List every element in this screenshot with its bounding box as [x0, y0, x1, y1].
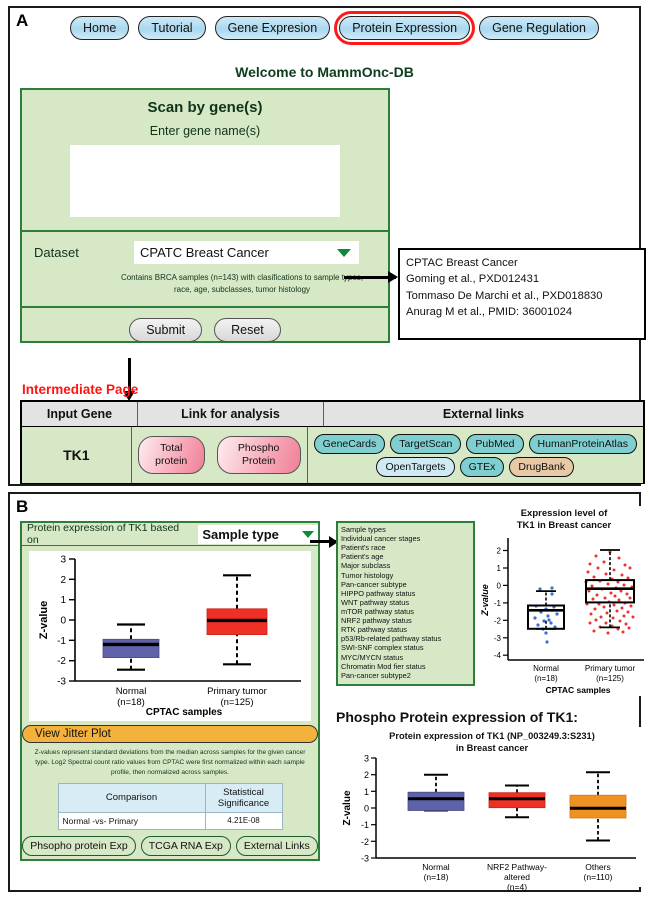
phospho-protein-button[interactable]: Phospho Protein [217, 436, 301, 473]
grouping-options-list[interactable]: Sample types Individual cancer stages Pa… [336, 521, 475, 686]
main-boxplot-svg: 321 0-1-2 -3 Z-value [29, 551, 311, 721]
link-humanproteinatlas[interactable]: HumanProteinAtlas [529, 434, 637, 454]
reset-button[interactable]: Reset [214, 318, 281, 342]
dataset-row: Dataset CPATC Breast Cancer [22, 232, 388, 264]
chevron-down-icon [337, 249, 351, 257]
svg-text:3: 3 [60, 555, 66, 566]
cell-input-gene: TK1 [22, 427, 131, 483]
svg-text:Primary tumor: Primary tumor [207, 686, 267, 697]
jitter-plot-svg: 210 -1-2-3 -4 Z-value [478, 532, 649, 697]
list-item[interactable]: Major subclass [341, 561, 470, 570]
list-item[interactable]: Sample types [341, 525, 470, 534]
nav-tab-home[interactable]: Home [70, 16, 129, 40]
nav-tab-gene-expression[interactable]: Gene Expresion [215, 16, 331, 40]
panel-b-letter: B [16, 497, 28, 517]
nav-tab-protein-expression[interactable]: Protein Expression [339, 16, 470, 40]
view-jitter-plot-button[interactable]: View Jitter Plot [22, 725, 318, 743]
svg-text:1: 1 [497, 564, 502, 573]
intermediate-page-banner: Intermediate Page [22, 382, 138, 397]
svg-text:-3: -3 [494, 634, 502, 643]
gene-name-input[interactable] [69, 144, 341, 218]
svg-text:(n=18): (n=18) [534, 674, 558, 683]
external-links-row-1: GeneCards TargetScan PubMed HumanProtein… [314, 434, 637, 454]
list-item[interactable]: mTOR pathway status [341, 607, 470, 616]
svg-text:0: 0 [60, 616, 66, 627]
phospho-protein-exp-button[interactable]: Phsopho protein Exp [22, 836, 135, 856]
svg-text:2: 2 [60, 575, 66, 586]
box-tumor-jitter [586, 550, 634, 627]
list-item[interactable]: Tumor histology [341, 571, 470, 580]
welcome-title: Welcome to MammOnc-DB [10, 64, 639, 80]
svg-text:0: 0 [497, 581, 502, 590]
cell-analysis-links: Total protein Phospho Protein [131, 427, 307, 483]
svg-text:-3: -3 [361, 854, 369, 864]
list-item[interactable]: Pan-cancer subtype2 [341, 671, 470, 680]
list-item[interactable]: WNT pathway status [341, 598, 470, 607]
link-gtex[interactable]: GTEx [460, 457, 505, 477]
scan-by-genes-form: Scan by gene(s) Enter gene name(s) Datas… [20, 88, 390, 343]
zvalue-caption: Z-values represent standard deviations f… [28, 748, 312, 779]
svg-text:-2: -2 [361, 837, 369, 847]
list-item[interactable]: p53/Rb-related pathway status [341, 634, 470, 643]
svg-text:Normal: Normal [422, 862, 450, 872]
svg-text:3: 3 [364, 754, 369, 764]
nav-tab-gene-regulation[interactable]: Gene Regulation [479, 16, 599, 40]
phospho-section-title: Phospho Protein expression of TK1: [336, 709, 578, 725]
statistical-significance-table: Comparison Statistical Significance Norm… [58, 783, 283, 830]
form-divider-2 [22, 306, 388, 308]
list-item[interactable]: Chromatin Mod fier status [341, 662, 470, 671]
svg-text:(n=18): (n=18) [117, 697, 145, 708]
svg-text:-2: -2 [57, 656, 66, 667]
protein-expression-card: Protein expression of TK1 based on Sampl… [20, 521, 320, 861]
tcga-rna-exp-button[interactable]: TCGA RNA Exp [141, 836, 231, 856]
grouping-selected-value: Sample type [198, 527, 279, 542]
panel-a-letter: A [16, 11, 28, 31]
box-normal [103, 625, 159, 670]
svg-text:2: 2 [364, 770, 369, 780]
phospho-boxplot-svg: 321 0-1-2 -3 Z-value [336, 754, 648, 894]
list-item[interactable]: SWI-SNF complex status [341, 643, 470, 652]
svg-text:(n=110): (n=110) [584, 872, 613, 882]
main-boxplot-chart: 321 0-1-2 -3 Z-value [29, 551, 311, 721]
dataset-citations-box: CPTAC Breast Cancer Goming et al., PXD01… [398, 248, 646, 340]
scan-form-title: Scan by gene(s) [22, 99, 388, 116]
svg-text:(n=125): (n=125) [220, 697, 253, 708]
svg-text:altered: altered [504, 872, 530, 882]
svg-text:-2: -2 [494, 616, 502, 625]
total-protein-button[interactable]: Total protein [138, 436, 205, 473]
box-phospho-nrf2 [489, 786, 545, 818]
submit-button[interactable]: Submit [129, 318, 202, 342]
main-navbar: Home Tutorial Gene Expresion Protein Exp… [70, 16, 599, 40]
list-item[interactable]: NRF2 pathway status [341, 616, 470, 625]
svg-text:(n=4): (n=4) [507, 882, 527, 892]
arrow-to-options-icon [310, 540, 336, 543]
grouping-bar: Protein expression of TK1 based on Sampl… [22, 523, 318, 546]
box-normal-jitter [528, 591, 564, 629]
dataset-selected-value: CPATC Breast Cancer [134, 245, 269, 260]
list-item[interactable]: HIPPO pathway status [341, 589, 470, 598]
jitter-plot-title: Expression level ofTK1 in Breast cancer [478, 506, 649, 532]
cell-significance: 4.21E-08 [205, 812, 282, 829]
svg-text:-4: -4 [494, 651, 502, 660]
column-header-comparison: Comparison [58, 783, 205, 812]
external-links-row-2: OpenTargets GTEx DrugBank [314, 457, 637, 477]
jitter-plot-xlabel: CPTAC samples [545, 685, 610, 695]
citation-item: Tommaso De Marchi et al., PXD018830 [406, 288, 638, 304]
svg-text:-1: -1 [494, 599, 502, 608]
nav-tab-tutorial[interactable]: Tutorial [138, 16, 205, 40]
phospho-ylabel: Z-value [342, 790, 353, 825]
main-boxplot-ylabel: Z-value [38, 601, 50, 640]
dataset-select[interactable]: CPATC Breast Cancer [134, 241, 359, 264]
link-opentargets[interactable]: OpenTargets [376, 457, 454, 477]
panel-b: B Protein expression of TK1 based on Sam… [8, 492, 641, 892]
column-header-link-analysis: Link for analysis [137, 402, 323, 426]
svg-text:Others: Others [585, 862, 611, 872]
gene-input-label: Enter gene name(s) [22, 124, 388, 138]
column-header-significance: Statistical Significance [205, 783, 282, 812]
svg-text:-1: -1 [361, 820, 369, 830]
svg-text:NRF2 Pathway-: NRF2 Pathway- [487, 862, 547, 872]
table-header-row: Input Gene Link for analysis External li… [22, 402, 643, 427]
svg-text:1: 1 [364, 787, 369, 797]
citation-item: CPTAC Breast Cancer [406, 255, 638, 271]
jitter-plot-ylabel: Z-value [480, 584, 490, 617]
list-item[interactable]: Patient's race [341, 543, 470, 552]
column-header-input-gene: Input Gene [22, 402, 137, 426]
table-row: Normal -vs- Primary 4.21E-08 [58, 812, 282, 829]
box-primary-tumor [207, 575, 267, 664]
grouping-label: Protein expression of TK1 based on [22, 522, 193, 546]
svg-text:Primary tumor: Primary tumor [585, 664, 636, 673]
citation-item: Goming et al., PXD012431 [406, 271, 638, 287]
svg-text:(n=18): (n=18) [424, 872, 449, 882]
svg-text:0: 0 [364, 804, 369, 814]
box-phospho-others [570, 772, 626, 840]
link-pubmed[interactable]: PubMed [466, 434, 523, 454]
cell-comparison: Normal -vs- Primary [58, 812, 205, 829]
citation-item: Anurag M et al., PMID: 36001024 [406, 304, 638, 320]
intermediate-results-table: Input Gene Link for analysis External li… [20, 400, 645, 484]
svg-text:-1: -1 [57, 636, 66, 647]
cell-external-links: GeneCards TargetScan PubMed HumanProtein… [307, 427, 643, 483]
list-item[interactable]: Pan-cancer subtype [341, 580, 470, 589]
external-links-button[interactable]: External Links [236, 836, 318, 856]
grouping-select[interactable]: Sample type [198, 525, 318, 544]
table-row: TK1 Total protein Phospho Protein GeneCa… [22, 427, 643, 483]
main-boxplot-xlabel: CPTAC samples [146, 707, 223, 718]
chevron-down-icon [302, 531, 314, 538]
form-button-row: Submit Reset [22, 318, 388, 342]
gene-symbol: TK1 [63, 447, 89, 463]
panel-a: A Home Tutorial Gene Expresion Protein E… [8, 6, 641, 486]
link-targetscan[interactable]: TargetScan [390, 434, 461, 454]
svg-text:Normal: Normal [533, 664, 559, 673]
link-drugbank[interactable]: DrugBank [509, 457, 574, 477]
list-item[interactable]: Individual cancer stages [341, 534, 470, 543]
list-item[interactable]: Patient's age [341, 552, 470, 561]
phospho-boxplot-chart: Protein expression of TK1 (NP_003249.3:S… [336, 727, 648, 887]
dataset-label: Dataset [34, 245, 134, 260]
table-header-row: Comparison Statistical Significance [58, 783, 282, 812]
svg-text:1: 1 [60, 595, 66, 606]
svg-text:2: 2 [497, 546, 502, 555]
jitter-plot-chart: Expression level ofTK1 in Breast cancer … [478, 506, 649, 696]
box-phospho-normal [408, 775, 464, 811]
svg-text:(n=125): (n=125) [596, 674, 624, 683]
list-item[interactable]: RTK pathway status [341, 625, 470, 634]
panelb-button-row: Phsopho protein Exp TCGA RNA Exp Externa… [22, 836, 318, 856]
list-item[interactable]: MYC/MYCN status [341, 653, 470, 662]
arrow-to-citations-icon [344, 276, 396, 279]
link-genecards[interactable]: GeneCards [314, 434, 386, 454]
svg-text:Normal: Normal [116, 686, 147, 697]
svg-text:-3: -3 [57, 677, 66, 688]
phospho-plot-title: Protein expression of TK1 (NP_003249.3:S… [336, 727, 648, 754]
column-header-external-links: External links [323, 402, 643, 426]
dataset-note: Contains BRCA samples (n=143) with clasi… [118, 272, 366, 295]
